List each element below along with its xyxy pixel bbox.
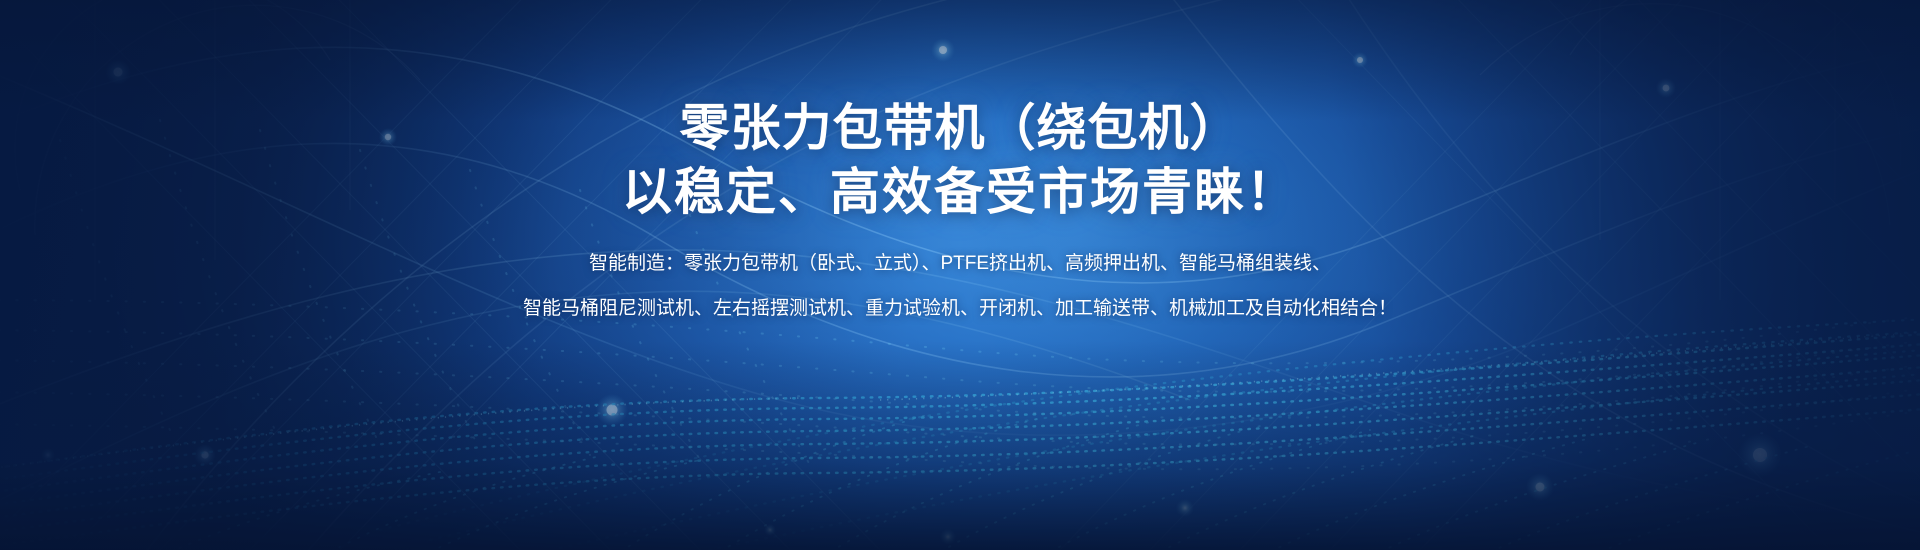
- hero-banner: 零张力包带机（绕包机） 以稳定、高效备受市场青睐！ 智能制造：零张力包带机（卧式…: [0, 0, 1920, 550]
- subtitle-line-1: 智能制造：零张力包带机（卧式、立式）、PTFE挤出机、高频押出机、智能马桶组装线…: [589, 250, 1331, 279]
- headline-line-2: 以稳定、高效备受市场青睐！: [622, 160, 1298, 224]
- banner-content: 零张力包带机（绕包机） 以稳定、高效备受市场青睐！ 智能制造：零张力包带机（卧式…: [0, 0, 1920, 550]
- headline-line-1: 零张力包带机（绕包机）: [680, 96, 1241, 160]
- subtitle-line-2: 智能马桶阻尼测试机、左右摇摆测试机、重力试验机、开闭机、加工输送带、机械加工及自…: [523, 295, 1397, 324]
